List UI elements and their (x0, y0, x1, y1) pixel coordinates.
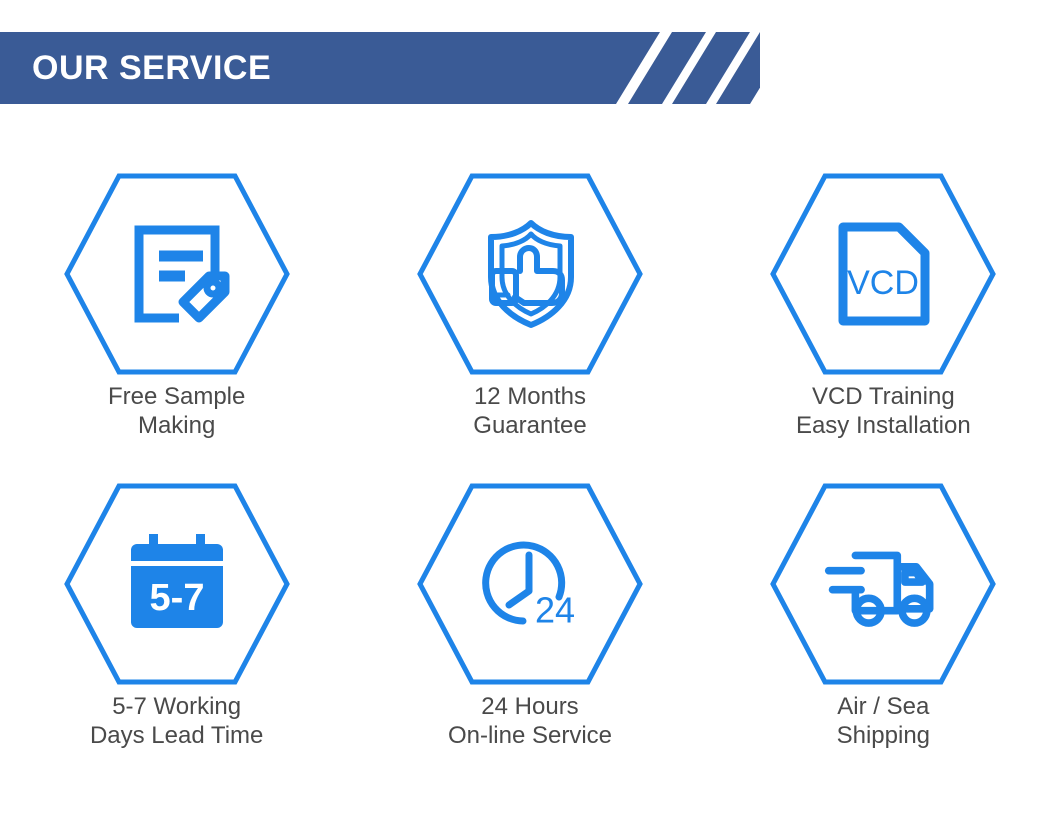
hexagon-badge (414, 170, 646, 378)
page-title: OUR SERVICE (32, 32, 271, 104)
calendar-icon: 5-7 (117, 524, 237, 644)
clock-icon-label: 24 (535, 590, 575, 631)
service-caption-line2: Guarantee (473, 411, 586, 440)
service-caption-line1: 12 Months (474, 382, 586, 411)
service-caption-line1: VCD Training (812, 382, 955, 411)
service-caption-line2: Easy Installation (796, 411, 971, 440)
service-caption-line1: Free Sample (108, 382, 245, 411)
clock-24-icon: 24 (470, 524, 590, 644)
header-banner: OUR SERVICE (0, 32, 760, 104)
service-caption-line2: Days Lead Time (90, 721, 263, 750)
delivery-truck-icon (823, 524, 943, 644)
service-card-free-sample[interactable]: Free Sample Making (0, 170, 353, 480)
service-grid: Free Sample Making 12 Months (0, 170, 1060, 790)
hexagon-badge: 24 (414, 480, 646, 688)
document-tag-icon (117, 214, 237, 334)
service-caption-line1: 24 Hours (481, 692, 578, 721)
service-card-shipping[interactable]: Air / Sea Shipping (707, 480, 1060, 790)
vcd-icon-label: VCD (847, 264, 919, 302)
hexagon-badge: 5-7 (61, 480, 293, 688)
service-caption-line2: On-line Service (448, 721, 612, 750)
service-card-guarantee[interactable]: 12 Months Guarantee (353, 170, 706, 480)
service-card-lead-time[interactable]: 5-7 5-7 Working Days Lead Time (0, 480, 353, 790)
service-caption-line2: Making (138, 411, 215, 440)
hexagon-badge (61, 170, 293, 378)
hexagon-badge (767, 480, 999, 688)
calendar-icon-label: 5-7 (149, 577, 204, 619)
service-card-online-service[interactable]: 24 24 Hours On-line Service (353, 480, 706, 790)
hexagon-badge: VCD (767, 170, 999, 378)
service-caption-line2: Shipping (837, 721, 930, 750)
service-card-vcd-training[interactable]: VCD VCD Training Easy Installation (707, 170, 1060, 480)
service-caption-line1: Air / Sea (837, 692, 929, 721)
service-caption-line1: 5-7 Working (112, 692, 241, 721)
shield-thumbs-up-icon (470, 214, 590, 334)
vcd-disc-document-icon: VCD (823, 214, 943, 334)
